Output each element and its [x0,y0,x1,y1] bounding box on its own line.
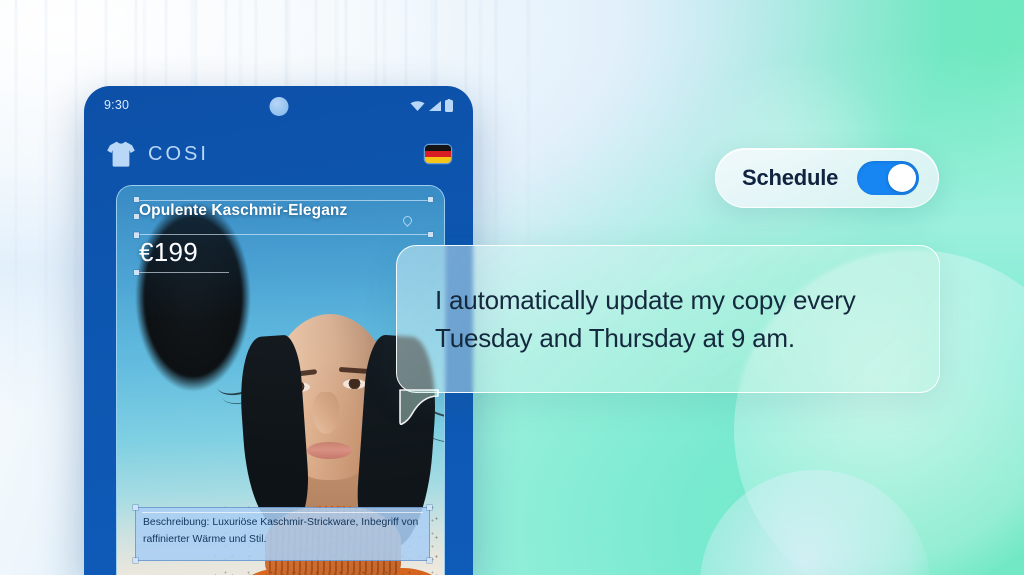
status-bar: 9:30 [84,86,473,124]
speech-bubble-tail [398,388,438,428]
brand-name: COSI [148,143,209,166]
canvas: 9:30 COSI [0,0,1024,575]
product-price-selection[interactable]: €199 [137,236,229,272]
wifi-icon [410,100,425,112]
speech-bubble: I automatically update my copy every Tue… [396,245,940,393]
schedule-toggle-switch[interactable] [857,161,919,195]
tshirt-icon [106,140,136,168]
status-bar-icons [410,98,453,112]
product-title: Opulente Kaschmir-Eleganz [139,202,347,220]
cellular-signal-icon [428,100,442,112]
product-description: Beschreibung: Luxuriöse Kaschmir-Strickw… [143,515,422,549]
toggle-knob [888,164,916,192]
product-title-selection[interactable]: Opulente Kaschmir-Eleganz [137,200,430,234]
brand-lockup[interactable]: COSI [106,140,209,168]
german-flag-icon[interactable] [425,145,451,163]
app-bar: COSI [84,130,473,178]
front-camera-dot [269,97,288,116]
speech-bubble-text: I automatically update my copy every Tue… [435,282,909,357]
product-description-selection[interactable]: Beschreibung: Luxuriöse Kaschmir-Strickw… [135,507,430,561]
status-bar-clock: 9:30 [104,98,129,112]
battery-icon [445,99,453,112]
schedule-label: Schedule [742,165,838,191]
rotate-handle-icon[interactable] [401,214,414,227]
schedule-control[interactable]: Schedule [715,148,939,208]
product-price: €199 [139,237,198,268]
product-card[interactable]: Opulente Kaschmir-Eleganz €199 Beschreib… [116,185,445,575]
